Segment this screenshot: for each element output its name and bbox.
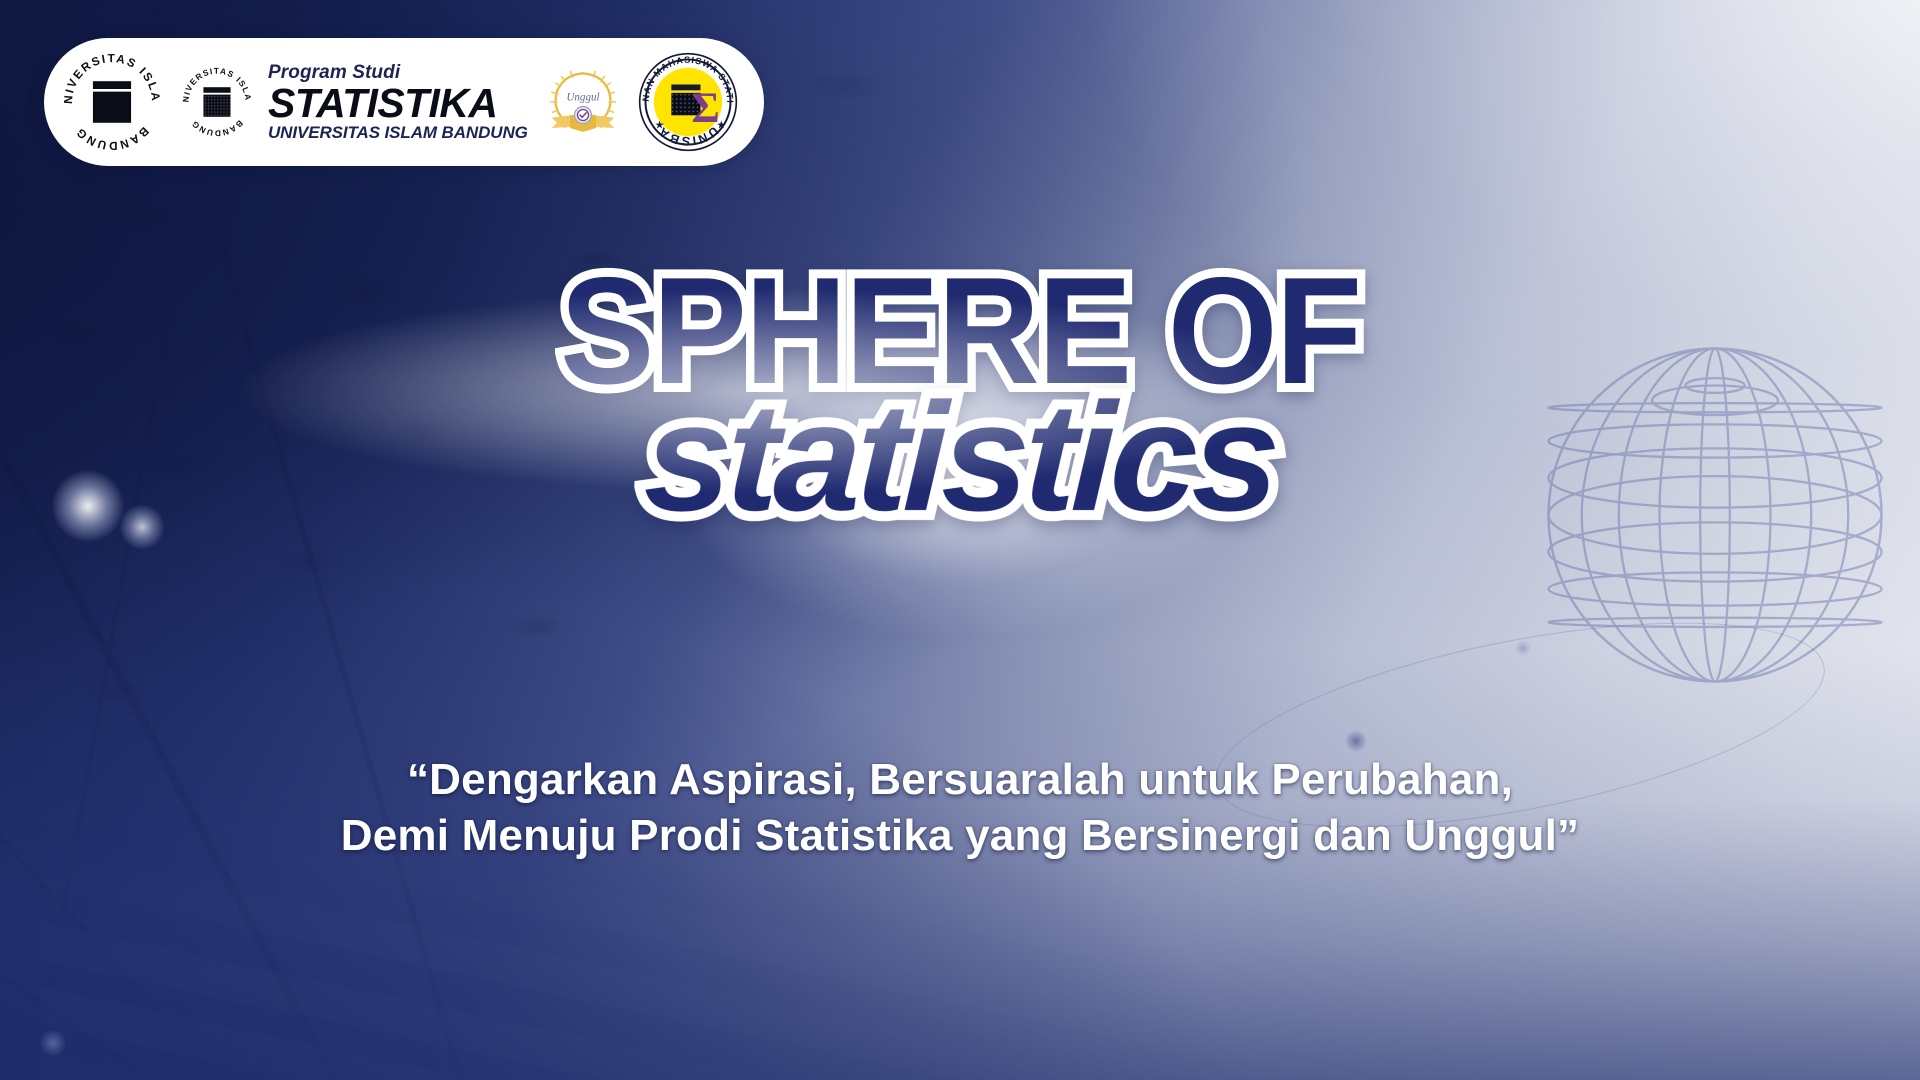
- program-studi-text-block: Program Studi STATISTIKA UNIVERSITAS ISL…: [268, 63, 528, 142]
- program-studi-seal-icon: UNIVERSITAS ISLAM BANDUNG: [180, 65, 254, 139]
- sphere-of-statistics-banner: UNIVERSITAS ISLAM BANDUNG: [0, 0, 1920, 1080]
- center-light-burst: [560, 190, 1460, 750]
- universitas-islam-bandung-seal-icon: UNIVERSITAS ISLAM BANDUNG: [60, 50, 164, 154]
- akreditasi-unggul-seal-icon: Unggul: [544, 63, 622, 141]
- statistika-wordmark: STATISTIKA: [268, 84, 528, 123]
- svg-text:★: ★: [654, 120, 664, 132]
- program-studi-label: Program Studi: [268, 63, 528, 82]
- universitas-islam-bandung-label: UNIVERSITAS ISLAM BANDUNG: [268, 124, 528, 141]
- hima-statistika-unisba-seal-icon: HIMPUNAN MAHASISWA STATISTIKA UNISBA ★ ★…: [638, 52, 738, 152]
- svg-text:Σ: Σ: [691, 84, 719, 132]
- svg-text:Unggul: Unggul: [566, 92, 599, 104]
- logo-bar: UNIVERSITAS ISLAM BANDUNG: [44, 38, 764, 166]
